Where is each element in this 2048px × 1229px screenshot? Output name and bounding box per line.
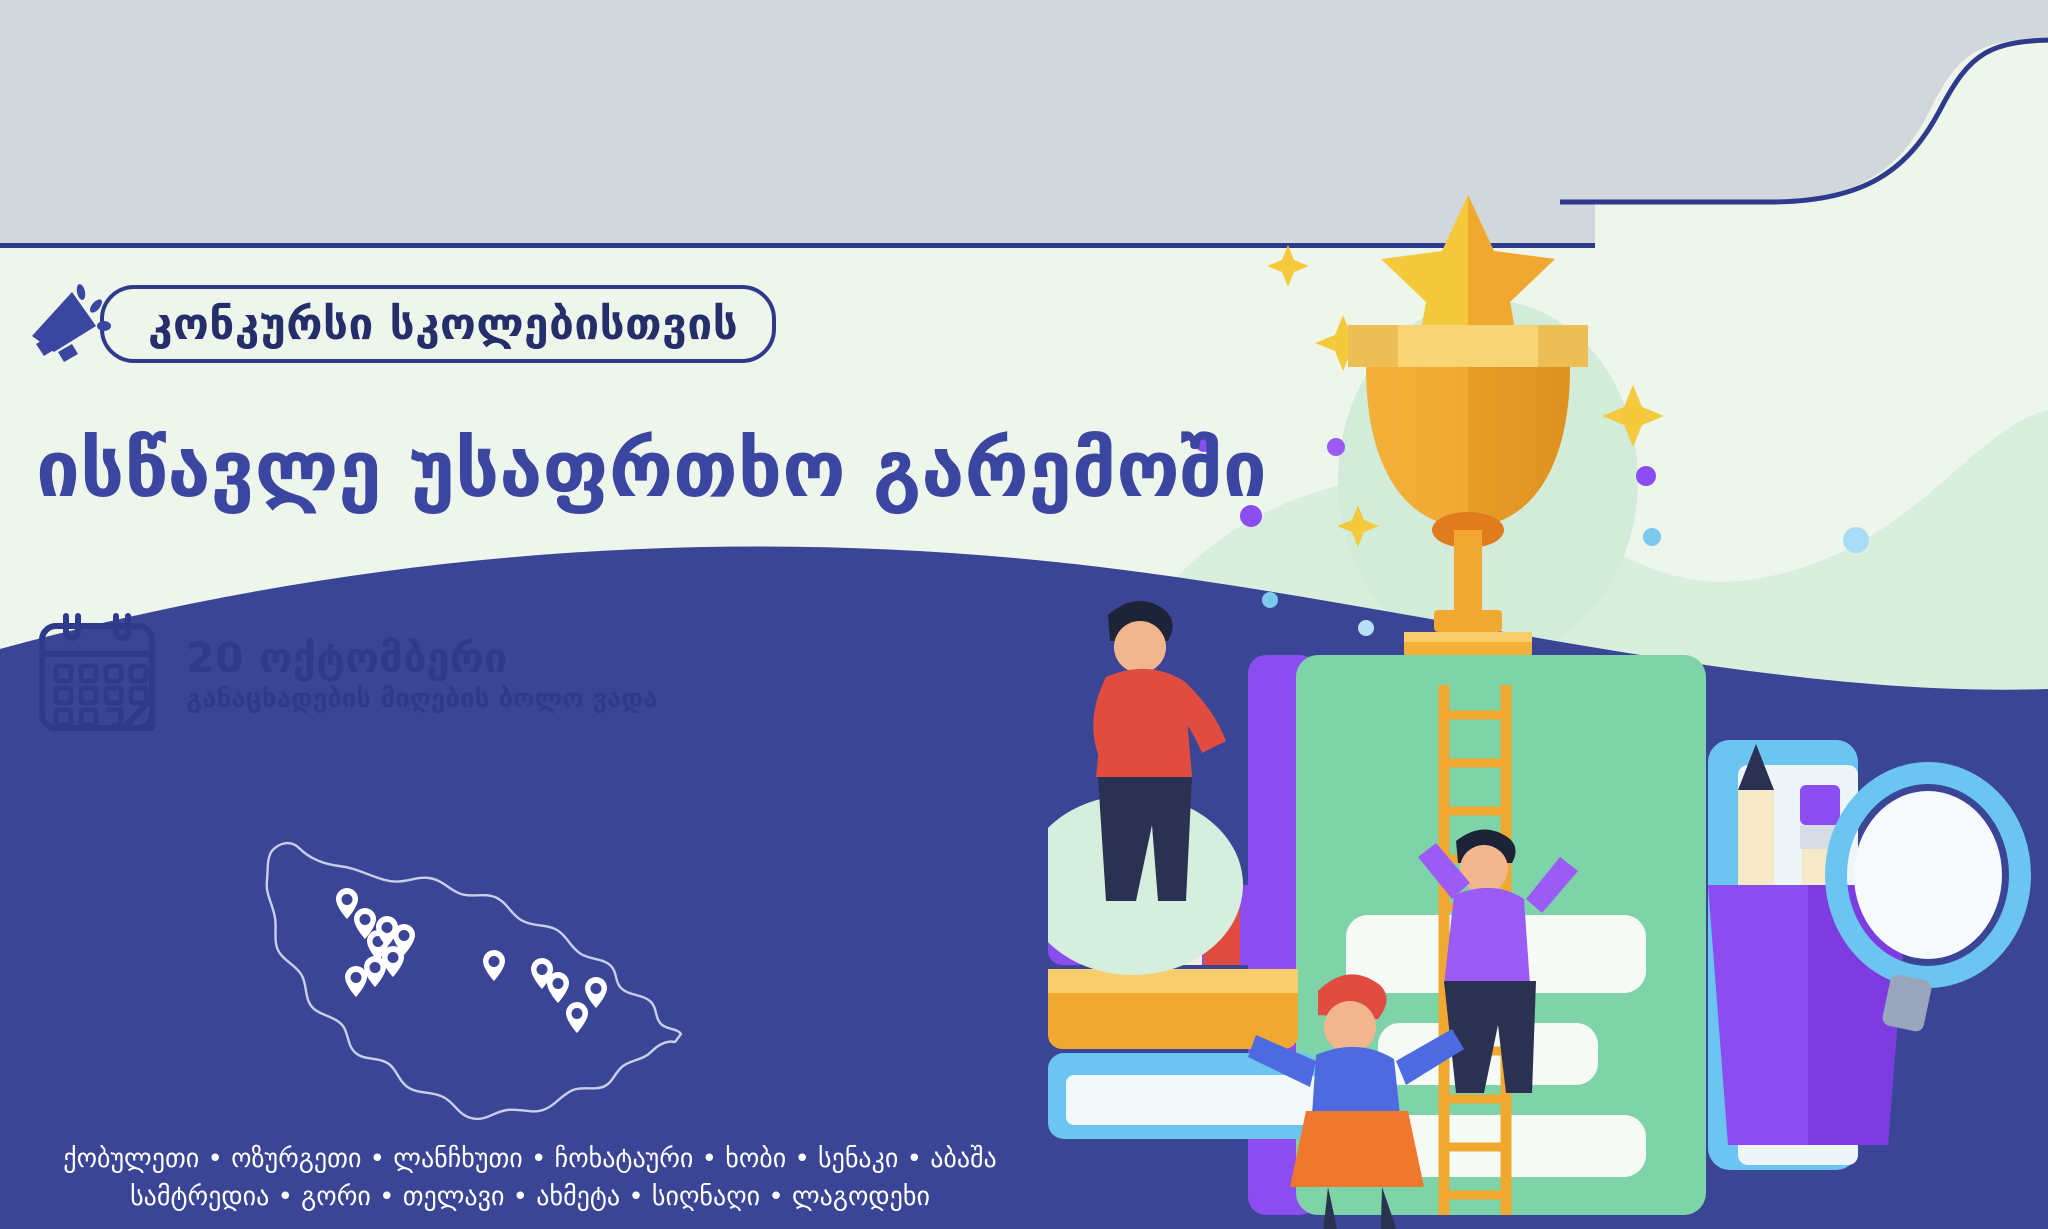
calendar-icon xyxy=(36,610,158,734)
dot-blue xyxy=(1843,527,1869,553)
dot-purple xyxy=(1327,438,1345,456)
map-pin xyxy=(483,950,505,981)
city-list: ქობულეთი • ოზურგეთი • ლანჩხუთი • ჩოხატაუ… xyxy=(0,1140,1060,1216)
dot-blue xyxy=(1262,592,1278,608)
city-list-line-1: ქობულეთი • ოზურგეთი • ლანჩხუთი • ჩოხატაუ… xyxy=(0,1140,1060,1178)
students-trophy-books-illustration xyxy=(1048,185,2048,1229)
map-pin xyxy=(336,888,358,919)
dot-blue xyxy=(1643,528,1661,546)
map-pin xyxy=(566,1002,588,1033)
map-pin xyxy=(364,956,386,987)
map-pin xyxy=(382,946,404,977)
map-pin xyxy=(345,966,367,997)
map-pin xyxy=(585,977,607,1008)
poster-canvas: GREEN CLIMATE FUND გარემოს დაცვისა და სო… xyxy=(0,0,2048,1229)
student-standing-figure xyxy=(1048,601,1243,975)
announcement-banner: კონკურსი სკოლებისთვის xyxy=(28,282,776,366)
map-pins xyxy=(336,888,607,1033)
announcement-text: კონკურსი სკოლებისთვის xyxy=(148,299,738,350)
deadline-block: 20 ოქტომბერი განაცხადების მიღების ბოლო ვ… xyxy=(36,610,658,734)
dot-purple xyxy=(1636,466,1656,486)
city-list-line-2: სამტრედია • გორი • თელავი • ახმეტა • სიღ… xyxy=(0,1178,1060,1216)
megaphone-icon xyxy=(28,282,114,366)
page-title: ისწავლე უსაფრთხო გარემოში xyxy=(36,425,1267,515)
map-pin xyxy=(547,972,569,1003)
deadline-note: განაცხადების მიღების ბოლო ვადა xyxy=(186,683,658,715)
trophy-icon xyxy=(1348,325,1588,658)
pencil-cup-icon xyxy=(1708,744,1908,1145)
announcement-pill: კონკურსი სკოლებისთვის xyxy=(100,285,776,363)
deadline-date: 20 ოქტომბერი xyxy=(186,635,658,681)
georgia-outline-map xyxy=(160,830,790,1130)
dot-blue xyxy=(1358,620,1374,636)
